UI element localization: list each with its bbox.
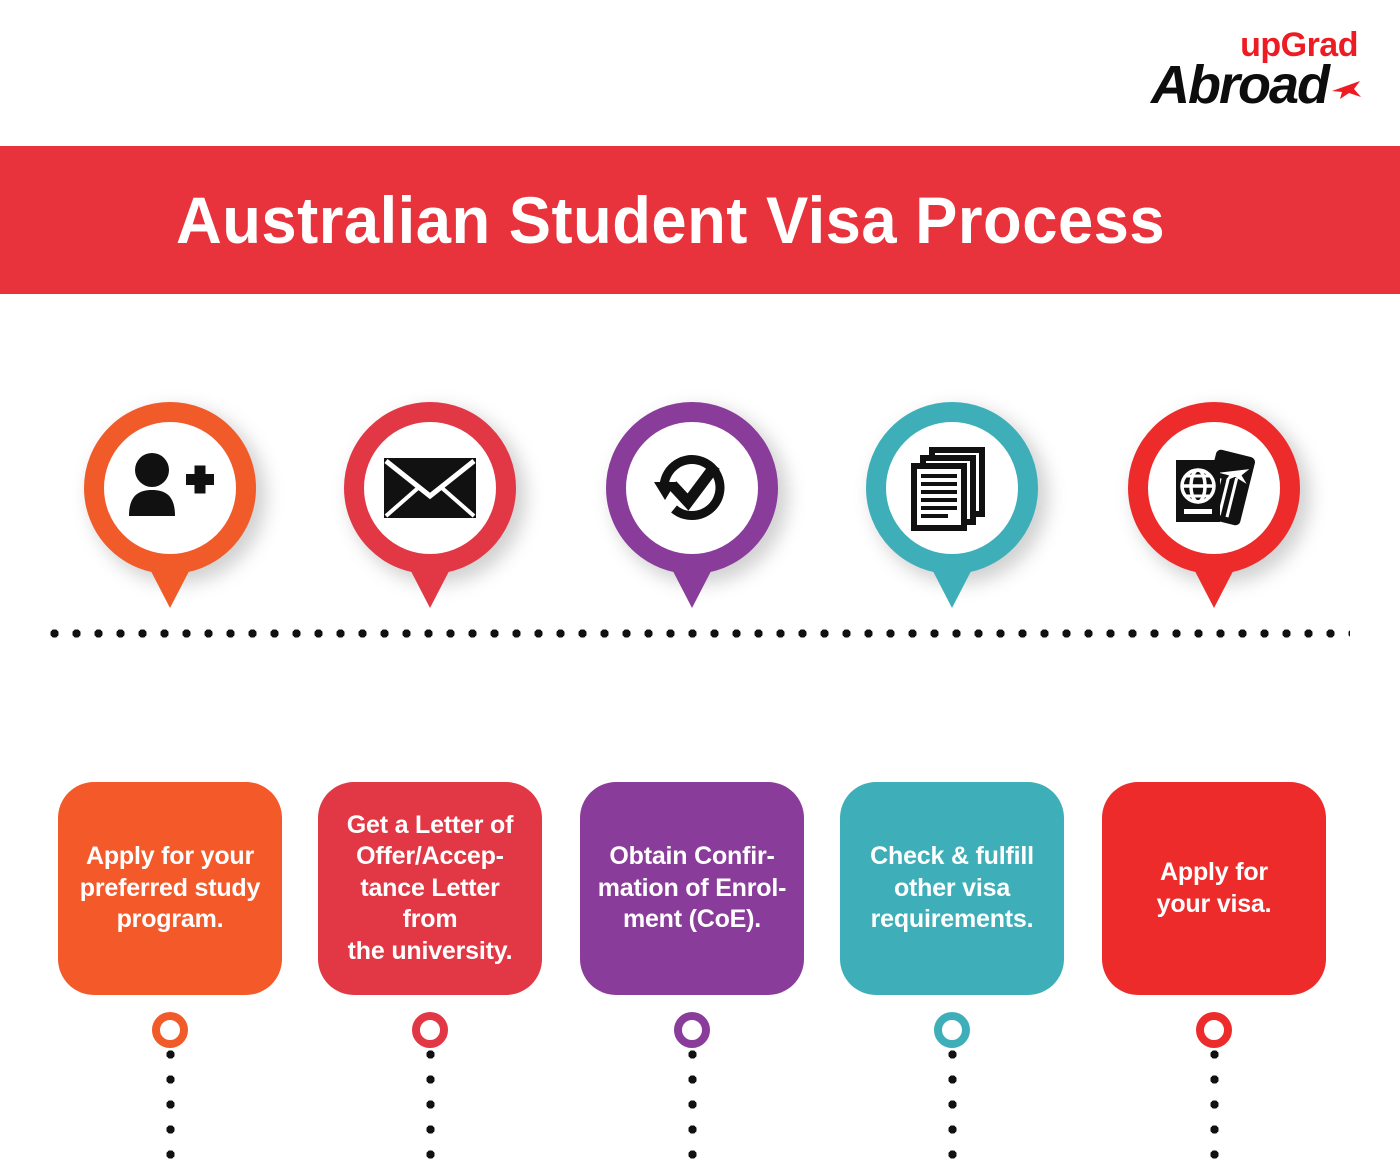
step-5-caption: Apply for your visa. [1157, 857, 1272, 920]
title-banner: Australian Student Visa Process [0, 146, 1400, 294]
step-1-caption: Apply for your preferred study program. [80, 841, 260, 936]
step-1-pin[interactable] [40, 396, 300, 634]
user-add-icon [84, 402, 256, 574]
connector-dots-1 [166, 1050, 175, 1168]
timeline-node-2 [412, 1012, 448, 1048]
brand-logo: upGrad Abroad [1134, 28, 1364, 120]
step-5 [1084, 396, 1344, 634]
step-4 [822, 396, 1082, 634]
step-1 [40, 396, 300, 634]
connector-dots-3 [688, 1050, 697, 1168]
step-4-caption: Check & fulfill other visa requirements. [870, 841, 1034, 936]
step-4-pin[interactable] [822, 396, 1082, 634]
envelope-icon [344, 402, 516, 574]
timeline-node-4 [934, 1012, 970, 1048]
connector-dots-2 [426, 1050, 435, 1168]
step-3-caption: Obtain Confir- mation of Enrol- ment (Co… [598, 841, 786, 936]
step-5-card[interactable]: Apply for your visa. [1102, 782, 1326, 995]
documents-stack-icon [866, 402, 1038, 574]
step-1-card[interactable]: Apply for your preferred study program. [58, 782, 282, 995]
step-4-card[interactable]: Check & fulfill other visa requirements. [840, 782, 1064, 995]
check-circle-arrow-icon [606, 402, 778, 574]
step-3 [562, 396, 822, 634]
logo-abroad-row: Abroad [1134, 58, 1364, 112]
step-2 [300, 396, 560, 634]
connector-dots-4 [948, 1050, 957, 1168]
step-2-pin[interactable] [300, 396, 560, 634]
timeline-node-1 [152, 1012, 188, 1048]
passport-ticket-icon [1128, 402, 1300, 574]
timeline-node-5 [1196, 1012, 1232, 1048]
step-3-card[interactable]: Obtain Confir- mation of Enrol- ment (Co… [580, 782, 804, 995]
connector-dots-5 [1210, 1050, 1219, 1168]
logo-abroad-text: Abroad [1151, 58, 1328, 112]
step-3-pin[interactable] [562, 396, 822, 634]
step-2-card[interactable]: Get a Letter of Offer/Accep- tance Lette… [318, 782, 542, 995]
timeline-node-3 [674, 1012, 710, 1048]
step-5-pin[interactable] [1084, 396, 1344, 634]
step-2-caption: Get a Letter of Offer/Accep- tance Lette… [332, 810, 528, 968]
page-title: Australian Student Visa Process [176, 182, 1165, 258]
airplane-icon [1330, 75, 1364, 106]
